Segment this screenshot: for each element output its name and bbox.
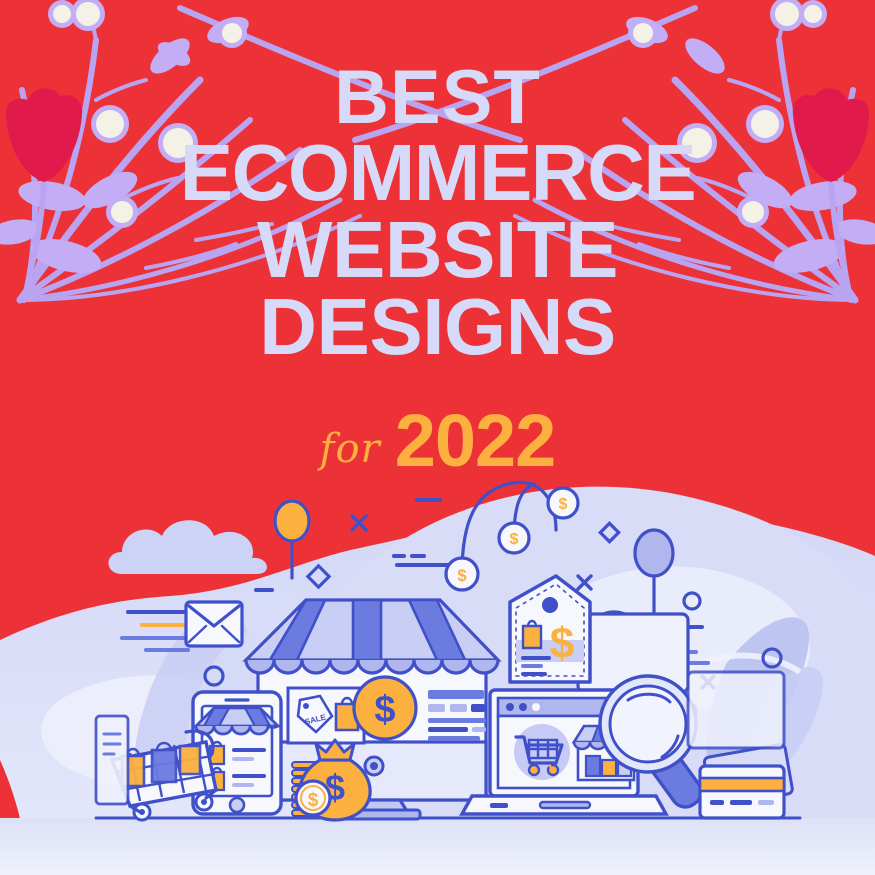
price-tag-symbol: $ xyxy=(550,619,574,668)
cross-decor-2 xyxy=(578,576,591,589)
cross-decor-1 xyxy=(352,516,366,530)
diamond-decor-1 xyxy=(308,566,329,587)
dollar-badge-symbol: $ xyxy=(374,689,395,731)
price-tag-bag xyxy=(523,621,541,648)
cart-bag-orange-2 xyxy=(180,746,200,774)
storefront-poster-frame: SALE xyxy=(288,688,364,743)
balloon-lavender xyxy=(635,530,673,620)
coin-2-symbol: $ xyxy=(510,531,519,548)
coin-1: $ xyxy=(446,558,478,590)
desktop-monitor-icon xyxy=(688,672,784,748)
cloud-icon xyxy=(109,520,268,574)
browser-cart-graphic xyxy=(514,724,570,780)
hanging-coins: $ $ $ xyxy=(446,482,578,590)
circle-decor-1 xyxy=(684,593,700,609)
coin-2: $ xyxy=(499,523,529,553)
small-coin-icon: $ xyxy=(296,781,330,815)
coin-3: $ xyxy=(548,488,578,518)
dollar-badge: $ xyxy=(354,677,416,739)
cart-bag-blue xyxy=(152,743,176,782)
price-tag-icon: $ xyxy=(510,576,590,682)
diamond-decor-2 xyxy=(600,523,618,541)
circle-decor-2 xyxy=(763,649,781,667)
poster-canvas: BEST ECOMMERCE WEBSITE DESIGNS for 2022 … xyxy=(0,0,875,875)
circle-decor-4 xyxy=(205,667,223,685)
coin-1-symbol: $ xyxy=(457,566,467,585)
envelope-icon xyxy=(122,602,242,650)
ecommerce-illustration: .ink{stroke:#4050C8;stroke-width:3.2;fil… xyxy=(0,0,875,875)
balloon-orange xyxy=(275,501,309,578)
storefront-icon: SALE $ xyxy=(246,600,498,819)
phone-awning xyxy=(196,708,278,734)
back-panel-left xyxy=(96,716,128,804)
awning xyxy=(246,600,498,686)
svg-text:$: $ xyxy=(559,496,568,513)
small-coin-symbol: $ xyxy=(308,790,319,811)
credit-card-icon xyxy=(700,744,793,818)
